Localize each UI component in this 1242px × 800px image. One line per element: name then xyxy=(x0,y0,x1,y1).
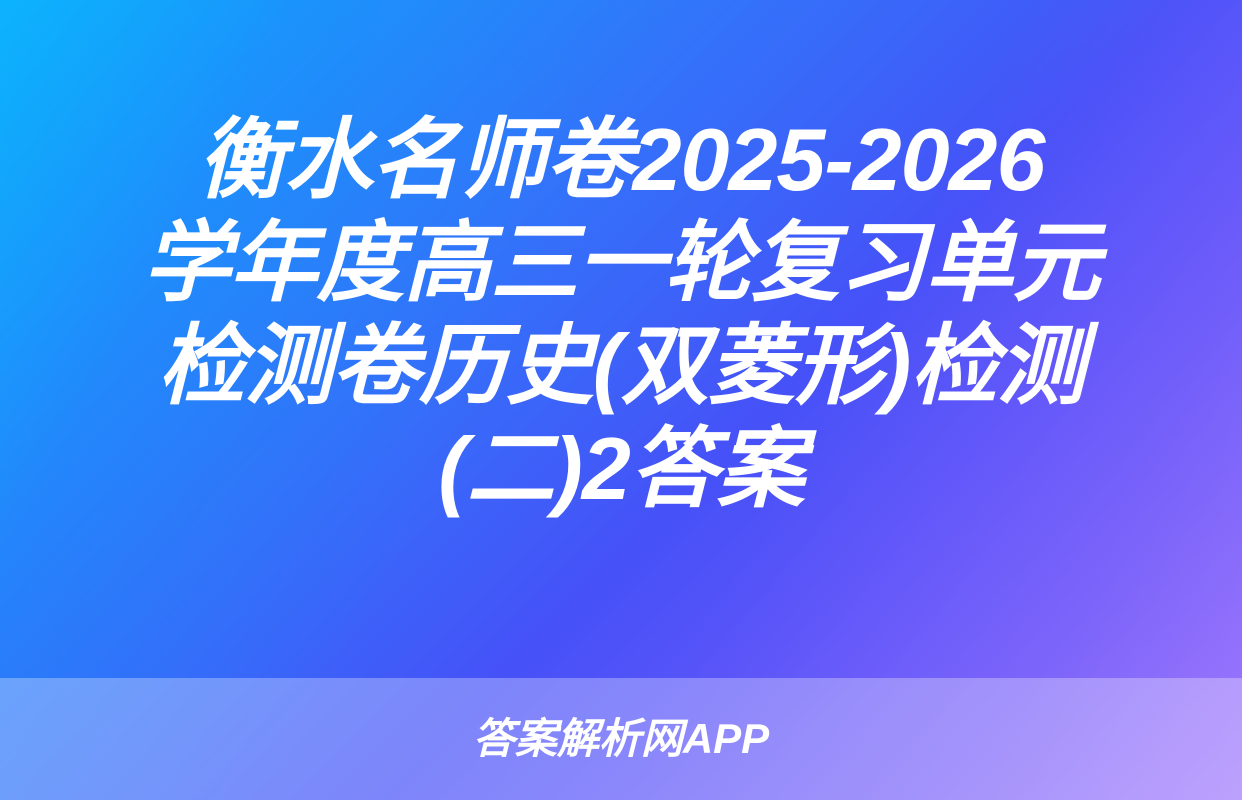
page-title: 衡水名师卷2025-2026 学年度高三一轮复习单元 检测卷历史(双菱形)检测 … xyxy=(0,108,1242,520)
app-branding-label: 答案解析网APP xyxy=(473,716,769,762)
title-line-2: 学年度高三一轮复习单元 xyxy=(44,211,1198,314)
title-line-1: 衡水名师卷2025-2026 xyxy=(44,108,1198,211)
title-line-4: (二)2答案 xyxy=(44,417,1198,520)
poster-canvas: 衡水名师卷2025-2026 学年度高三一轮复习单元 检测卷历史(双菱形)检测 … xyxy=(0,0,1242,800)
title-line-3: 检测卷历史(双菱形)检测 xyxy=(44,314,1198,417)
app-branding-bar: 答案解析网APP xyxy=(0,678,1242,800)
